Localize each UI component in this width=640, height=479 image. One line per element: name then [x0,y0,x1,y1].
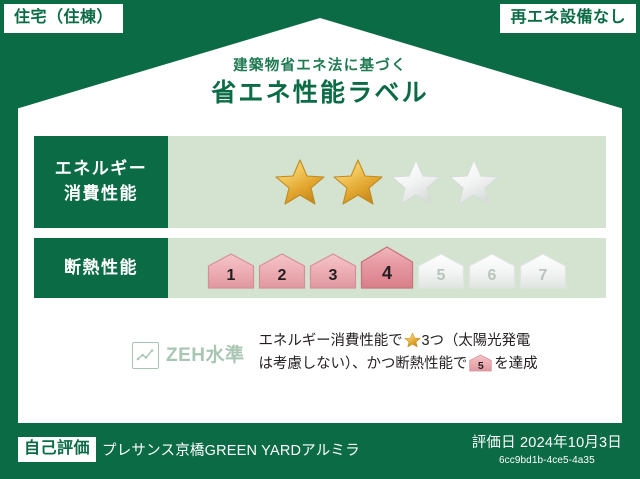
zeh-description-part4: を達成 [494,356,537,372]
house-badge-icon-inline: 5 [469,354,492,372]
star-icon-empty-4 [448,157,500,207]
zeh-description: エネルギー消費性能で3つ（太陽光発電は考慮しない）、かつ断熱性能で5を達成 [245,330,606,377]
zeh-chart-icon [132,342,159,369]
insulation-grade-6: 6 [468,252,516,290]
row-insulation-performance: 断熱性能 1 2 [34,238,606,298]
row-insulation-label-text: 断熱性能 [64,256,138,281]
zeh-label: ZEH水準 [166,346,245,365]
zeh-section: ZEH水準 エネルギー消費性能で3つ（太陽光発電は考慮しない）、かつ断熱性能で5… [34,330,606,377]
footer: 自己評価 プレサンス京橋GREEN YARDアルミラ 評価日 2024年10月3… [0,423,640,479]
zeh-description-badge-value: 5 [469,361,492,372]
insulation-grade-1-value: 1 [207,267,255,285]
zeh-mark: ZEH水準 [34,330,245,369]
header-tag-building-type: 住宅（住棟） [4,4,123,33]
insulation-grade-5: 5 [417,252,465,290]
insulation-grade-4-value: 4 [360,263,414,284]
insulation-grade-4-current: 4 [360,245,414,290]
insulation-grade-7-value: 7 [519,267,567,285]
footer-right: 評価日 2024年10月3日 6cc9bd1b-4ce5-4a35 [472,435,622,467]
row-insulation-label: 断熱性能 [34,238,168,298]
insulation-grade-scale: 1 2 3 4 [207,245,567,292]
energy-performance-label: 住宅（住棟） 再エネ設備なし 建築物省エネ法に基づく 省エネ性能ラベル エネルギ… [0,0,640,479]
star-icon-empty-3 [390,157,442,207]
row-energy-performance: エネルギー 消費性能 [34,136,606,228]
insulation-grade-6-value: 6 [468,267,516,285]
row-energy-label-line1: エネルギー [55,157,148,182]
row-energy-label: エネルギー 消費性能 [34,136,168,228]
self-evaluation-badge: 自己評価 [18,437,96,462]
header-tag-renewable-energy: 再エネ設備なし [500,4,636,33]
star-icon-filled-1 [274,157,326,207]
evaluation-date: 評価日 2024年10月3日 [472,435,622,452]
zeh-description-part1: エネルギー消費性能で [259,333,403,349]
row-insulation-panel: 1 2 3 4 [168,238,606,298]
building-name: プレサンス京橋GREEN YARDアルミラ [102,439,360,460]
insulation-grade-2-value: 2 [258,267,306,285]
row-energy-panel [168,136,606,228]
insulation-grade-7: 7 [519,252,567,290]
insulation-grade-3: 3 [309,252,357,290]
insulation-grade-2: 2 [258,252,306,290]
footer-left: 自己評価 プレサンス京橋GREEN YARDアルミラ [18,437,360,462]
title-subtitle: 建築物省エネ法に基づく [0,58,640,75]
star-icon-filled-2 [332,157,384,207]
insulation-grade-3-value: 3 [309,267,357,285]
insulation-grade-1: 1 [207,252,255,290]
insulation-grade-5-value: 5 [417,267,465,285]
evaluation-id: 6cc9bd1b-4ce5-4a35 [472,455,622,467]
page-title: 建築物省エネ法に基づく 省エネ性能ラベル [0,58,640,110]
star-rating [274,157,500,207]
zeh-description-part3: は考慮しない）、かつ断熱性能で [259,356,468,372]
star-icon-inline [404,332,421,348]
zeh-description-part2: 3つ（太陽光発電 [422,333,531,349]
title-main: 省エネ性能ラベル [0,78,640,109]
row-energy-label-line2: 消費性能 [64,182,138,207]
